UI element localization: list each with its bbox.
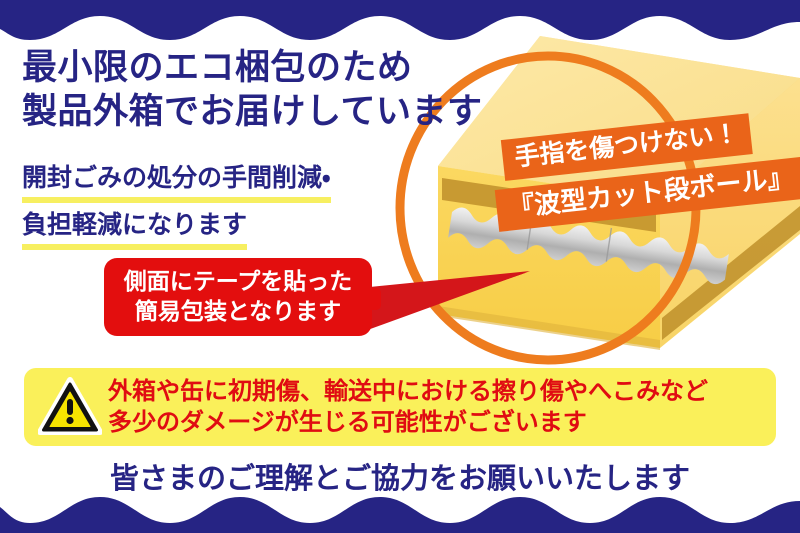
red-callout-line-2: 簡易包装となります bbox=[135, 297, 341, 327]
red-callout-tail bbox=[367, 288, 381, 310]
wave-band-top bbox=[0, 0, 800, 46]
poster-canvas: 最小限のエコ梱包のため 製品外箱でお届けしています 開封ごみの処分の手間削減・ … bbox=[0, 0, 800, 533]
headline-line-1: 最小限のエコ梱包のため bbox=[22, 46, 482, 90]
red-callout-line-1: 側面にテープを貼った bbox=[124, 267, 353, 297]
warning-text: 外箱や缶に初期傷、輸送中における擦り傷やへこみなど 多少のダメージが生じる可能性… bbox=[108, 376, 708, 438]
wave-band-bottom bbox=[0, 487, 800, 533]
subheadline-row-2: 負担軽減になります bbox=[22, 207, 331, 254]
warning-line-2: 多少のダメージが生じる可能性がございます bbox=[108, 407, 708, 438]
subheadline-row-1: 開封ごみの処分の手間削減・ bbox=[22, 160, 331, 207]
page-title: 最小限のエコ梱包のため 製品外箱でお届けしています bbox=[22, 46, 482, 134]
headline-line-2: 製品外箱でお届けしています bbox=[22, 90, 482, 134]
warning-box: 外箱や缶に初期傷、輸送中における擦り傷やへこみなど 多少のダメージが生じる可能性… bbox=[24, 368, 776, 446]
warning-line-1: 外箱や缶に初期傷、輸送中における擦り傷やへこみなど bbox=[108, 376, 708, 407]
warning-triangle-icon bbox=[38, 377, 102, 437]
red-arrow-pointer bbox=[360, 268, 532, 338]
subheadline: 開封ごみの処分の手間削減・ 負担軽減になります bbox=[22, 160, 331, 254]
subheadline-line-2: 負担軽減になります bbox=[22, 207, 247, 250]
red-callout-body: 側面にテープを貼った 簡易包装となります bbox=[104, 258, 372, 336]
red-callout-bubble: 側面にテープを貼った 簡易包装となります bbox=[104, 258, 372, 336]
subheadline-line-1: 開封ごみの処分の手間削減・ bbox=[22, 160, 331, 203]
